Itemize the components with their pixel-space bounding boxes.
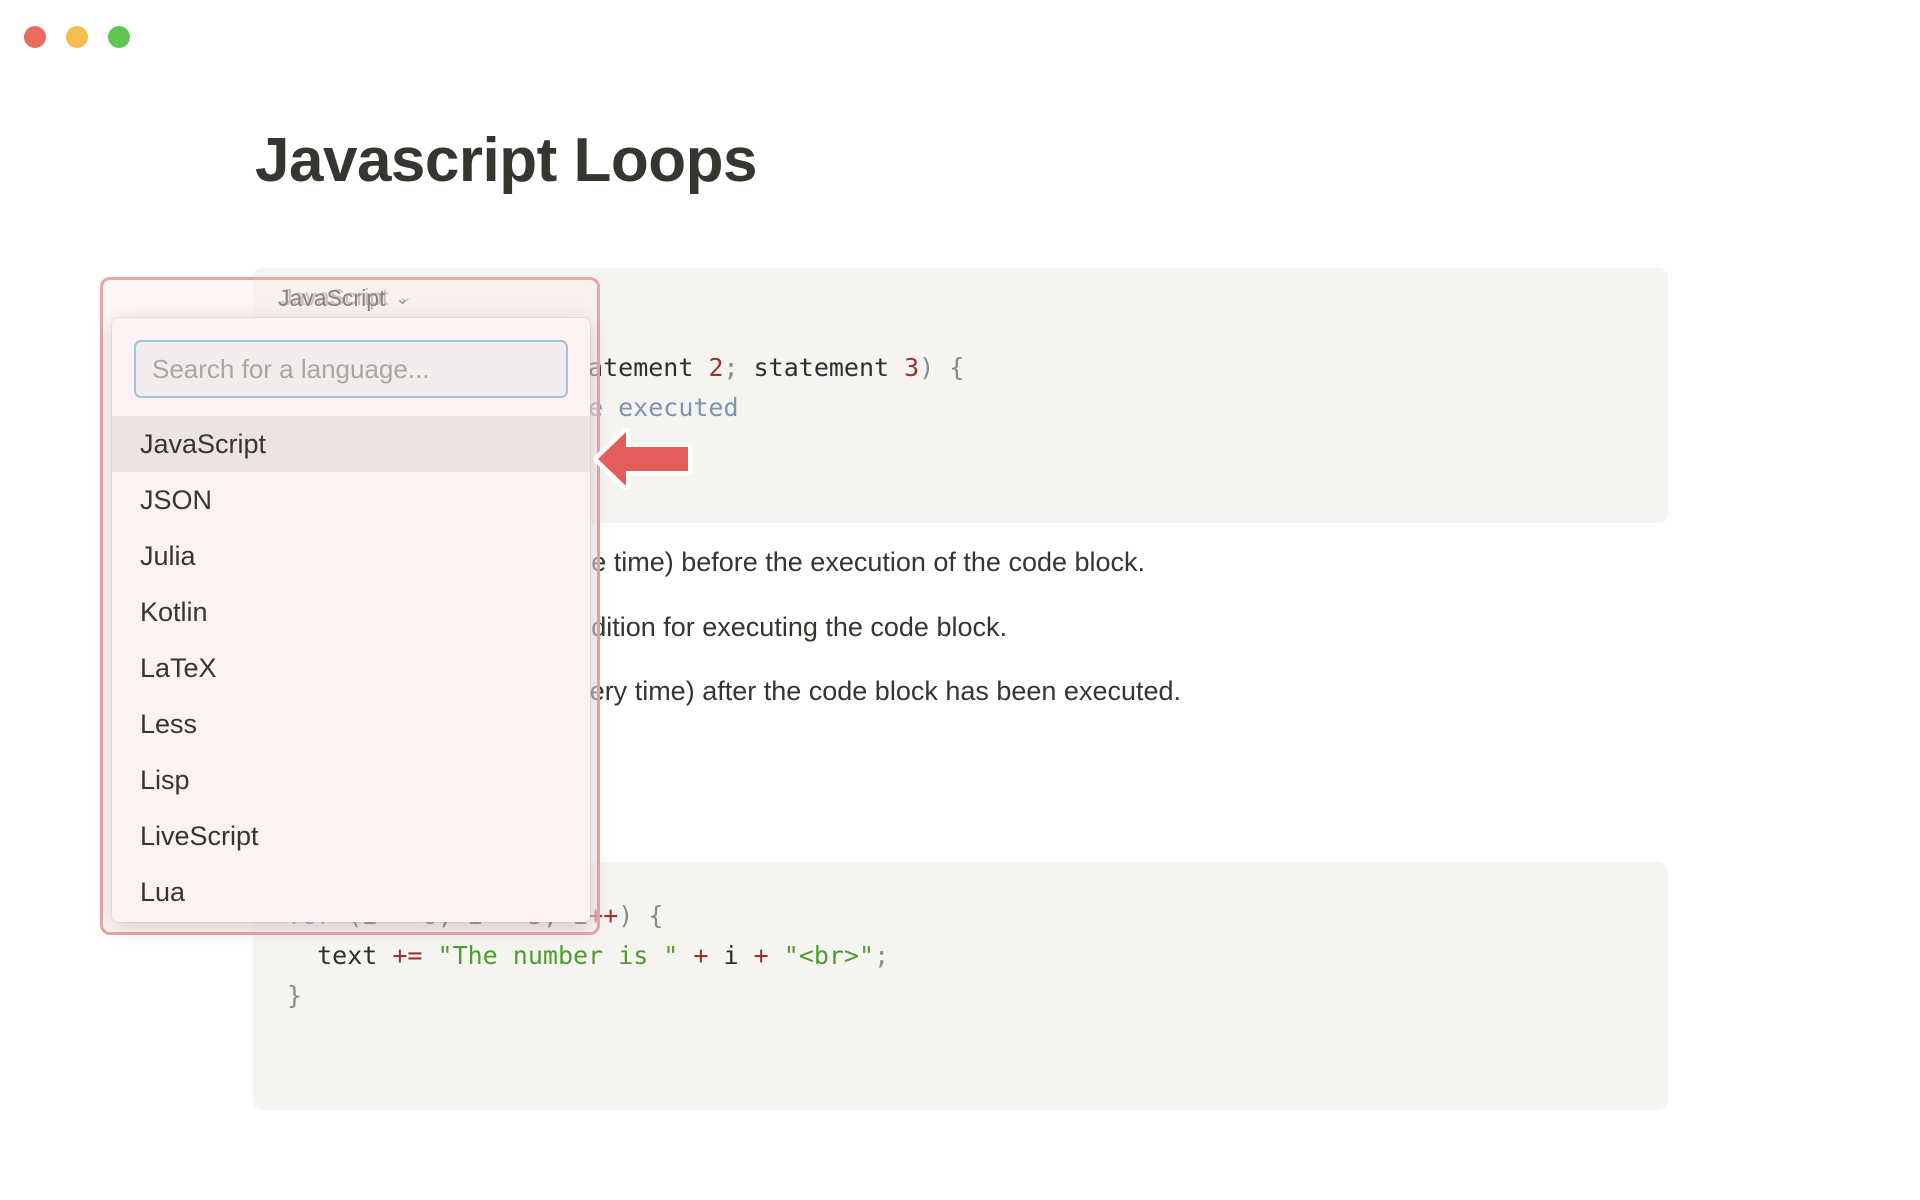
code-token: 3 (904, 353, 919, 382)
code-token: + (754, 941, 769, 970)
code-token (422, 941, 437, 970)
language-option-julia[interactable]: Julia (112, 528, 590, 584)
code-token: ) { (919, 353, 964, 382)
language-search-wrap (112, 318, 590, 412)
code-token (769, 941, 784, 970)
code-token (678, 941, 693, 970)
minimize-window-button[interactable] (66, 26, 88, 48)
language-option-lisp[interactable]: Lisp (112, 752, 590, 808)
code-token: ) { (618, 901, 663, 930)
language-option-latex[interactable]: LaTeX (112, 640, 590, 696)
close-window-button[interactable] (24, 26, 46, 48)
code-token: += (392, 941, 422, 970)
code-token: "<br>" (784, 941, 874, 970)
language-option-javascript[interactable]: JavaScript (112, 416, 590, 472)
code-token: "The number is " (438, 941, 679, 970)
code-token: text (287, 941, 392, 970)
language-option-json[interactable]: JSON (112, 472, 590, 528)
code-line: } (287, 976, 1634, 1016)
code-token: ; (724, 353, 754, 382)
language-option-less[interactable]: Less (112, 696, 590, 752)
window-titlebar (0, 0, 1920, 74)
language-option-lua[interactable]: Lua (112, 864, 590, 920)
code-token: 2 (708, 353, 723, 382)
code-token: statement (754, 353, 905, 382)
code-token: ; (874, 941, 889, 970)
language-option-kotlin[interactable]: Kotlin (112, 584, 590, 640)
language-select-trigger[interactable]: JavaScript ⌄ (278, 285, 410, 312)
language-dropdown-list: JavaScriptJSONJuliaKotlinLaTeXLessLispLi… (112, 412, 590, 920)
code-token: i (708, 941, 753, 970)
code-token: } (287, 981, 302, 1010)
code-token: + (693, 941, 708, 970)
pointer-arrow-icon (592, 428, 696, 490)
language-option-livescript[interactable]: LiveScript (112, 808, 590, 864)
app-window: Javascript Loops JavaScript ⌄ for (state… (0, 0, 1920, 1200)
maximize-window-button[interactable] (108, 26, 130, 48)
language-search-input[interactable] (134, 340, 568, 398)
language-dropdown-panel: JavaScriptJSONJuliaKotlinLaTeXLessLispLi… (112, 318, 590, 922)
page-title: Javascript Loops (255, 125, 757, 196)
code-line: text += "The number is " + i + "<br>"; (287, 936, 1634, 976)
chevron-down-icon: ⌄ (395, 289, 409, 309)
language-select-trigger-label: JavaScript (278, 285, 385, 312)
